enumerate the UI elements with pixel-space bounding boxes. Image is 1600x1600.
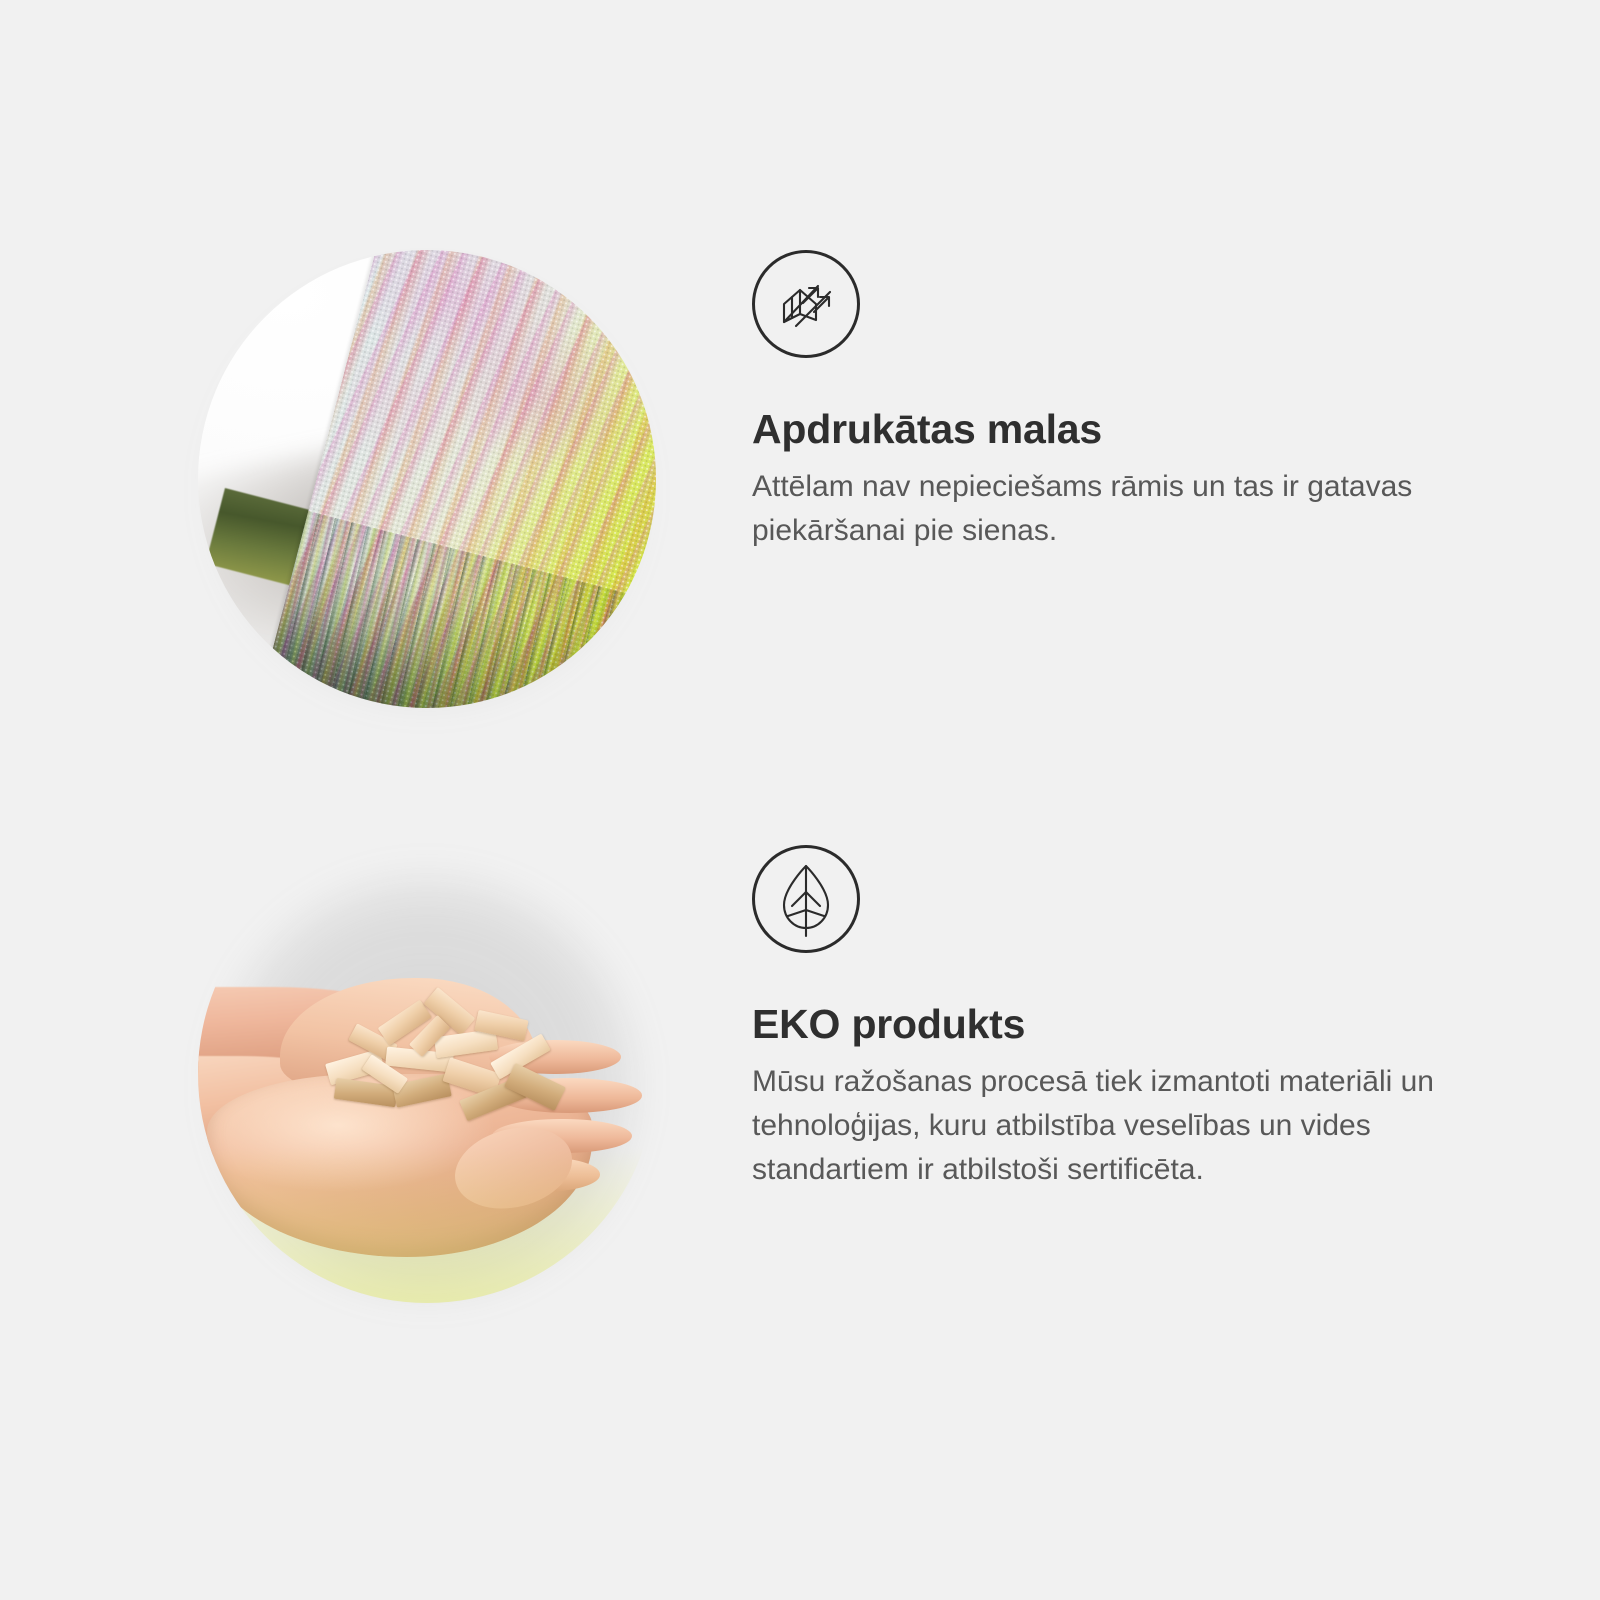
wood-chip	[504, 1063, 566, 1111]
wood-chips-in-hands-photo	[198, 845, 656, 1303]
feature-description: Attēlam nav nepieciešams rāmis un tas ir…	[752, 465, 1472, 553]
feature-printed-edges: Apdrukātas malas Attēlam nav nepieciešam…	[0, 250, 1600, 750]
green-bokeh-background	[198, 845, 656, 1303]
feature-title: EKO produkts	[752, 1003, 1482, 1046]
canvas-corner-photo-wrapper	[198, 250, 656, 708]
finger	[482, 1157, 600, 1192]
wood-chips-photo-wrapper	[198, 845, 656, 1303]
feature-title: Apdrukātas malas	[752, 408, 1482, 451]
white-wall-background	[198, 250, 656, 708]
feature-text-column: EKO produkts Mūsu ražošanas procesā tiek…	[752, 845, 1482, 1192]
leaf-icon	[752, 845, 860, 953]
feature-description: Mūsu ražošanas procesā tiek izmantoti ma…	[752, 1060, 1474, 1191]
feature-text-column: Apdrukātas malas Attēlam nav nepieciešam…	[752, 250, 1482, 553]
canvas-weave-texture	[262, 250, 656, 708]
canvas-printed-face	[262, 250, 656, 708]
product-features-panel: Apdrukātas malas Attēlam nav nepieciešam…	[0, 0, 1600, 1600]
feature-eco-product: EKO produkts Mūsu ražošanas procesā tiek…	[0, 845, 1600, 1345]
canvas-corner-photo	[198, 250, 656, 708]
printed-edges-icon	[752, 250, 860, 358]
wood-chips-heap	[317, 992, 573, 1139]
